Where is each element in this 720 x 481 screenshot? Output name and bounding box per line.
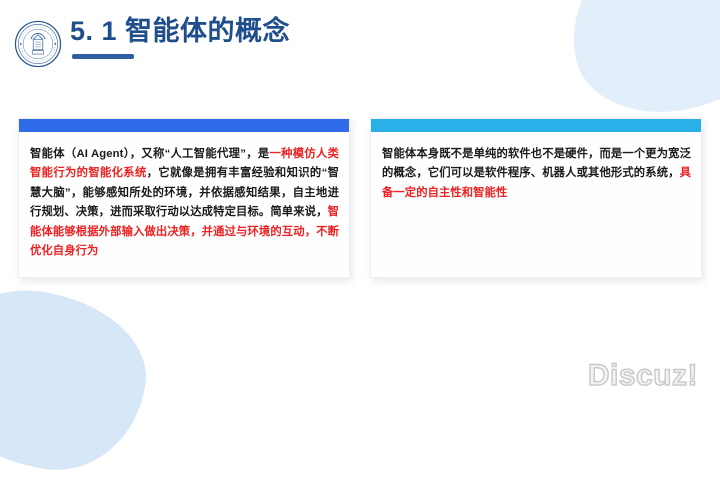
- watermark: Discuz!: [588, 359, 698, 393]
- page-title: 5. 1 智能体的概念: [70, 16, 290, 47]
- text-segment: 智能体（AI Agent），又称“人工智能代理”，是: [30, 148, 269, 160]
- title-underline: [72, 54, 134, 59]
- university-seal-icon: [14, 20, 62, 68]
- background-blob-top-right: [554, 0, 720, 130]
- card-container: 智能体（AI Agent），又称“人工智能代理”，是一种模仿人类智能行为的智能化…: [18, 118, 702, 278]
- text-segment: 智能体本身既不是单纯的软件也不是硬件，而是一个更为宽泛的概念，它们可以是软件程序…: [382, 148, 691, 179]
- concept-card: 智能体（AI Agent），又称“人工智能代理”，是一种模仿人类智能行为的智能化…: [18, 118, 350, 278]
- background-blob-bottom-left: [0, 278, 156, 481]
- slide-header: 5. 1 智能体的概念: [14, 16, 290, 68]
- nature-card: 智能体本身既不是单纯的软件也不是硬件，而是一个更为宽泛的概念，它们可以是软件程序…: [370, 118, 702, 278]
- concept-card-text: 智能体（AI Agent），又称“人工智能代理”，是一种模仿人类智能行为的智能化…: [19, 132, 349, 272]
- nature-card-accent-bar: [371, 119, 701, 132]
- concept-card-accent-bar: [19, 119, 349, 132]
- nature-card-text: 智能体本身既不是单纯的软件也不是硬件，而是一个更为宽泛的概念，它们可以是软件程序…: [371, 132, 701, 213]
